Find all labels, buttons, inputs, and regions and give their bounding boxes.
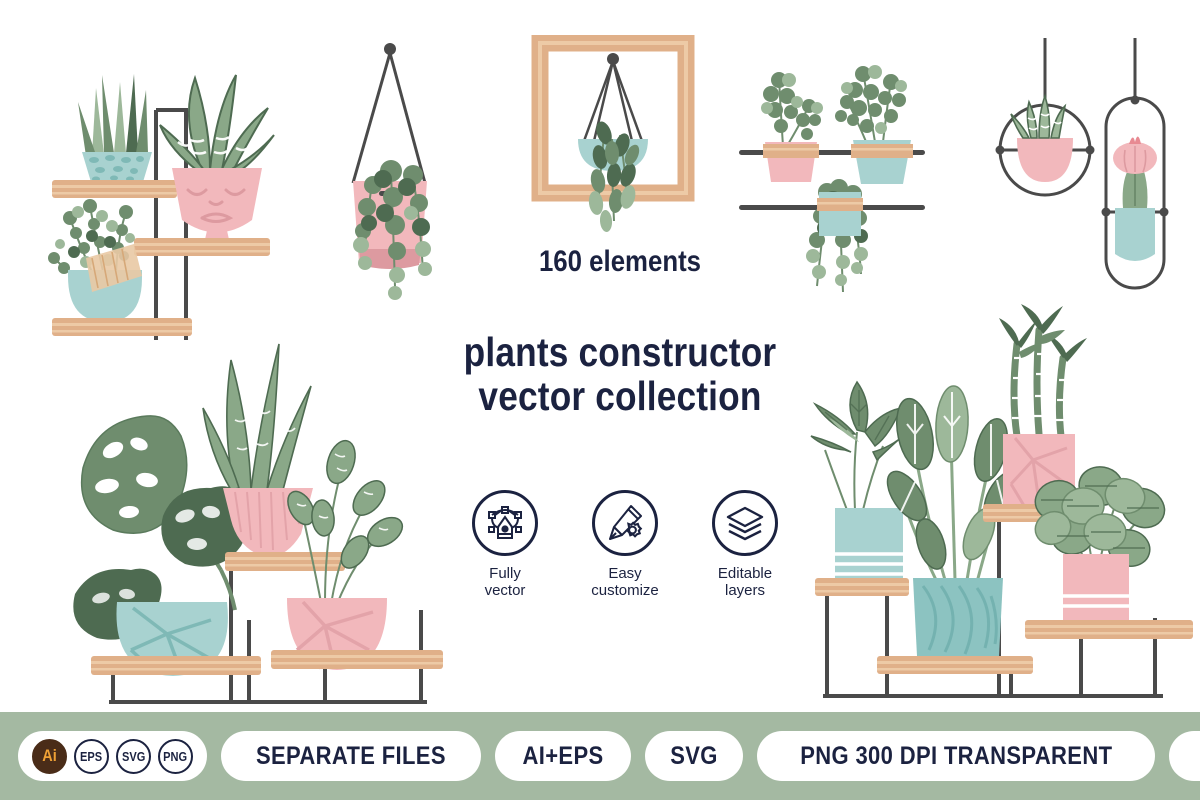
- element-count-label: 160 elements: [457, 245, 784, 279]
- format-badge-svg: SVG: [116, 739, 151, 774]
- page-title: plants constructor vector collection: [457, 330, 784, 419]
- title-line-1: plants constructor: [457, 330, 784, 374]
- feature-fully-vector: Fully vector: [455, 490, 555, 600]
- format-badge-label: PNG: [164, 749, 188, 764]
- pill-label: PNG 300 DPI TRANSPARENT: [800, 742, 1112, 771]
- feature-label: Fully vector: [485, 565, 526, 600]
- pill-ai-eps: AI+EPS: [495, 731, 631, 781]
- plant-cactus-flowering: [1113, 136, 1157, 208]
- hanger-knob: [384, 43, 396, 55]
- pill-hand-drawn: HAND DRAWN: [1169, 731, 1200, 781]
- pot-pink-striped: [1063, 554, 1129, 626]
- plant-succulent-spiky: [1011, 96, 1065, 138]
- pill-png-300-dpi-transparent: PNG 300 DPI TRANSPARENT: [757, 731, 1156, 781]
- shelf-board-lower-left: [91, 656, 261, 675]
- illustration-shelf-unit-top-left: [30, 30, 320, 340]
- feature-label-line-1: Fully: [485, 565, 526, 582]
- pot-teal-striped: [835, 508, 903, 580]
- hanger-capsule: [1102, 38, 1169, 288]
- feature-label-line-1: Editable: [718, 565, 772, 582]
- shelf-board-middle: [134, 238, 270, 256]
- pot-teal-capsule: [1115, 208, 1155, 261]
- feature-label-line-2: customize: [591, 582, 659, 599]
- plant-snake: [203, 344, 311, 490]
- plant-eucalyptus-right: [835, 65, 907, 144]
- pot-pink-round: [1017, 138, 1073, 182]
- plant-lucky-bamboo: [999, 304, 1087, 436]
- format-badge-eps: EPS: [74, 739, 109, 774]
- format-badge-label: EPS: [80, 749, 102, 764]
- feature-label-line-1: Easy: [591, 565, 659, 582]
- title-line-2: vector collection: [457, 374, 784, 418]
- plant-eucalyptus-left: [761, 72, 823, 146]
- format-badge-label: Ai: [42, 746, 56, 766]
- format-badge-group: Ai EPS SVG PNG: [18, 731, 207, 781]
- plant-calathea: [282, 437, 407, 604]
- format-badge-ai: Ai: [32, 739, 67, 774]
- feature-label-line-2: layers: [718, 582, 772, 599]
- plant-zebra-haworthia: [160, 75, 274, 172]
- shelf-board-top: [52, 180, 177, 198]
- illustration-wire-hangers: [975, 30, 1185, 320]
- pill-svg: SVG: [645, 731, 743, 781]
- pencil-gear-icon: [592, 490, 658, 556]
- format-badge-label: SVG: [122, 749, 145, 764]
- illustration-wall-rail-shelves: [735, 50, 965, 330]
- pot-teal-rail-right: [851, 140, 913, 184]
- feature-label: Editable layers: [718, 565, 772, 600]
- illustration-hanging-planter-pink: [325, 35, 455, 325]
- pill-label: SVG: [670, 742, 718, 771]
- pot-teal-dotted: [82, 152, 152, 182]
- plant-spiky-green: [78, 74, 148, 156]
- footer-bar: Ai EPS SVG PNG SEPARATE FILES AI+EPS SVG…: [0, 712, 1200, 800]
- pill-separate-files: SEPARATE FILES: [221, 731, 481, 781]
- pot-pink-rail-left: [763, 142, 819, 182]
- pot-teal-rail-bottom: [817, 192, 863, 236]
- shelf-board-right-lower: [1025, 620, 1193, 639]
- pen-tool-icon: [472, 490, 538, 556]
- hanger-circle: [996, 38, 1095, 195]
- feature-badges: Fully vector: [455, 490, 795, 600]
- illustration-plant-stand-bottom-left: [35, 320, 445, 710]
- feature-label: Easy customize: [591, 565, 659, 600]
- layers-icon: [712, 490, 778, 556]
- format-badge-png: PNG: [158, 739, 193, 774]
- shelf-board-left-top: [815, 578, 909, 596]
- pot-teal-wave: [913, 578, 1003, 662]
- pill-label: SEPARATE FILES: [256, 742, 446, 771]
- poster-canvas: 160 elements plants constructor vector c…: [0, 0, 1200, 800]
- pill-label: AI+EPS: [522, 742, 603, 771]
- illustration-framed-hanging-plant: [528, 35, 698, 250]
- illustration-plant-stand-bottom-right: [795, 300, 1195, 710]
- shelf-board-lower-right: [271, 650, 443, 669]
- feature-label-line-2: vector: [485, 582, 526, 599]
- hanger-cords: [584, 61, 642, 141]
- feature-easy-customize: Easy customize: [575, 490, 675, 600]
- pot-teal-bowl-wrapped: [68, 244, 142, 322]
- shelf-board-center-bottom: [877, 656, 1033, 674]
- feature-editable-layers: Editable layers: [695, 490, 795, 600]
